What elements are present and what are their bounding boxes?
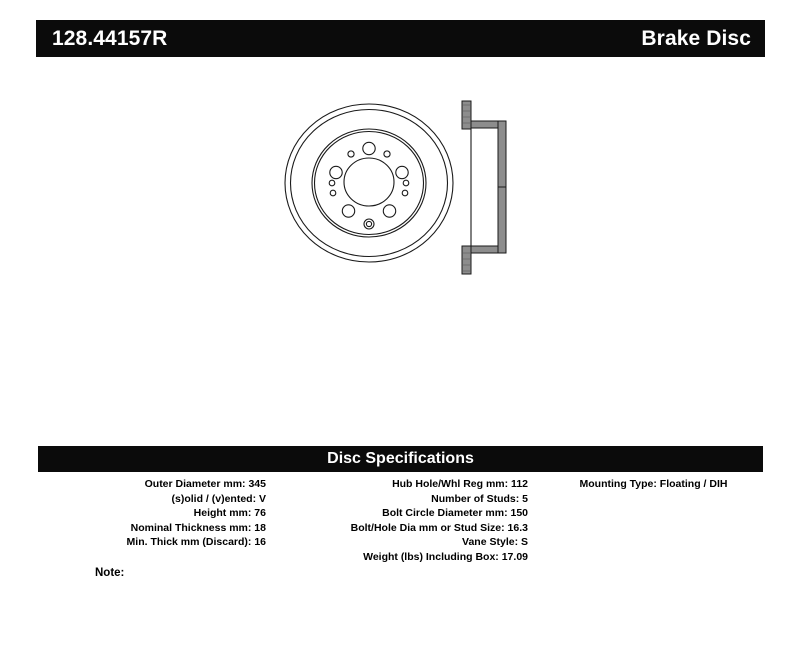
retaining-screw-outer: [364, 219, 374, 229]
pilot-hole: [329, 180, 335, 186]
hat-flange-bottom: [462, 246, 471, 274]
spec-section-header-bar: Disc Specifications: [38, 446, 763, 472]
technical-drawing-area: [0, 70, 800, 430]
vented-core-cavity: [471, 128, 498, 246]
hat-wall-bottom: [471, 246, 498, 253]
spec-item: Bolt/Hole Dia mm or Stud Size: 16.3: [284, 521, 528, 536]
spec-column-middle: Hub Hole/Whl Reg mm: 112 Number of Studs…: [284, 477, 544, 565]
spec-columns-container: Outer Diameter mm: 345 (s)olid / (v)ente…: [38, 477, 763, 565]
retaining-screw-inner: [366, 221, 371, 226]
spec-item: Height mm: 76: [38, 506, 266, 521]
brake-rotor-cross-section-view: [455, 93, 517, 283]
spec-item: Weight (lbs) Including Box: 17.09: [284, 550, 528, 565]
braking-ring-outer-top: [498, 121, 506, 187]
product-type-label: Brake Disc: [641, 28, 751, 49]
stud-hole: [396, 166, 408, 178]
spec-item: Min. Thick mm (Discard): 16: [38, 535, 266, 550]
braking-ring-outer-bottom: [498, 187, 506, 253]
stud-hole: [363, 142, 375, 154]
part-number-label: 128.44157R: [52, 28, 167, 49]
header-bar: 128.44157R Brake Disc: [36, 20, 765, 57]
spec-item: Number of Studs: 5: [284, 492, 528, 507]
pilot-hole: [348, 151, 354, 157]
note-row: Note:: [95, 568, 124, 580]
pilot-hole: [384, 151, 390, 157]
pilot-hole: [330, 190, 336, 196]
rotor-side-svg: [455, 93, 517, 283]
stud-hole: [330, 166, 342, 178]
spec-item: Bolt Circle Diameter mm: 150: [284, 506, 528, 521]
spec-column-left: Outer Diameter mm: 345 (s)olid / (v)ente…: [38, 477, 284, 565]
rotor-outer-edge: [285, 104, 453, 262]
pilot-hole: [403, 180, 409, 186]
spec-item: Outer Diameter mm: 345: [38, 477, 266, 492]
spec-item: (s)olid / (v)ented: V: [38, 492, 266, 507]
spec-column-right: Mounting Type: Floating / DIH: [544, 477, 763, 565]
spec-item: Nominal Thickness mm: 18: [38, 521, 266, 536]
spec-section-title: Disc Specifications: [327, 451, 474, 467]
pilot-hole: [402, 190, 408, 196]
stud-hole: [383, 205, 395, 217]
spec-item: Mounting Type: Floating / DIH: [544, 477, 763, 492]
brake-rotor-face-view: [283, 103, 455, 268]
hat-wall-top: [471, 121, 498, 128]
rotor-hub-bore: [344, 158, 394, 206]
spec-item: Vane Style: S: [284, 535, 528, 550]
note-label: Note:: [95, 567, 124, 579]
stud-hole: [342, 205, 354, 217]
spec-item: Hub Hole/Whl Reg mm: 112: [284, 477, 528, 492]
rotor-face-svg: [283, 103, 455, 268]
